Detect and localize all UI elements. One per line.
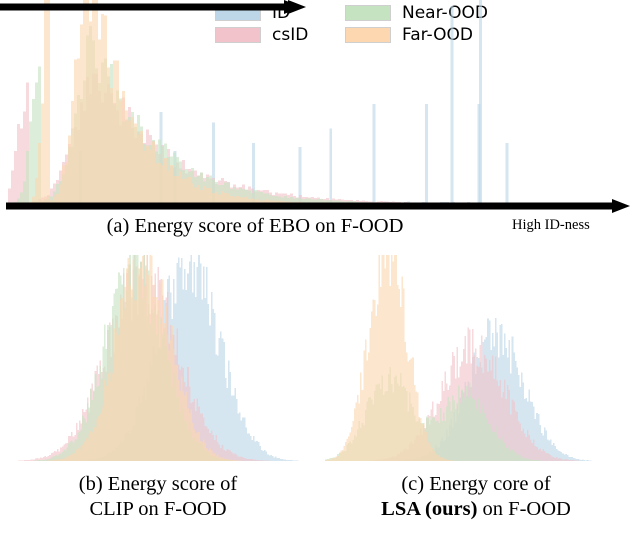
- panel-c-caption-line-1: (c) Energy core of: [322, 472, 630, 497]
- panel-b-caption: (b) Energy score of CLIP on F-OOD: [4, 472, 312, 522]
- histogram-plot-b: [10, 255, 308, 461]
- x-axis-arrow-a: [6, 199, 630, 213]
- panel-b-clip: [0, 255, 318, 465]
- panel-b-caption-line-1: (b) Energy score of: [4, 472, 312, 497]
- histogram-plot-a: [8, 0, 626, 204]
- axis-label-high-idness: High ID-ness: [512, 217, 590, 234]
- panel-c-caption-bold: LSA (ours): [381, 498, 477, 520]
- panel-a-ebo: [0, 0, 636, 212]
- x-axis-arrow-c: [0, 0, 306, 14]
- panel-b-caption-line-2: CLIP on F-OOD: [4, 497, 312, 522]
- panel-c-lsa: [320, 255, 636, 465]
- panel-c-caption: (c) Energy core of LSA (ours) on F-OOD: [322, 472, 630, 522]
- panel-c-caption-rest: on F-OOD: [477, 498, 570, 520]
- histogram-plot-c: [325, 255, 625, 461]
- panel-a-caption: (a) Energy score of EBO on F-OOD: [40, 214, 470, 239]
- panel-c-caption-line-2: LSA (ours) on F-OOD: [322, 497, 630, 522]
